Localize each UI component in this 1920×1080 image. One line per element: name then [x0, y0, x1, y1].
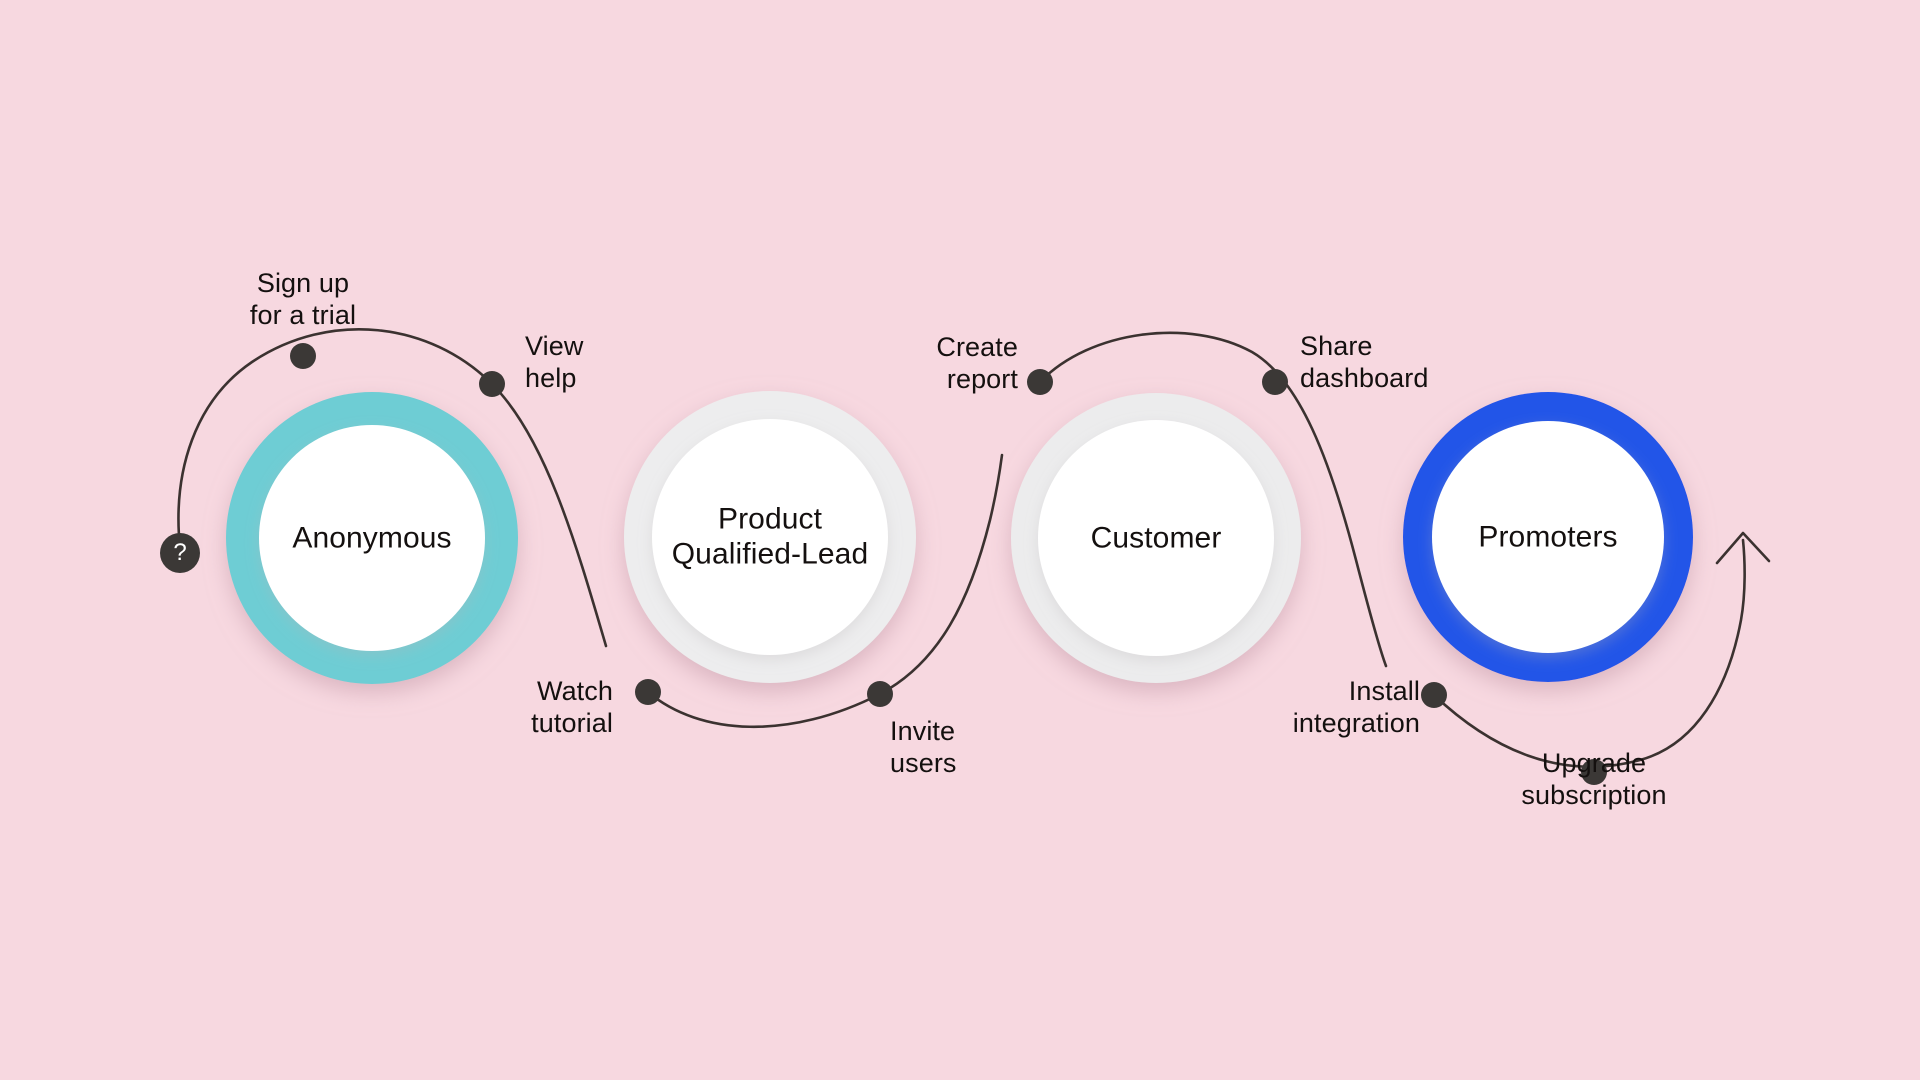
action-label-upgrade-subscription: Upgrade subscription — [1521, 748, 1666, 811]
action-dot-sign-up-for-a-trial[interactable] — [290, 343, 316, 369]
unknown-visitor-badge[interactable]: ? — [160, 533, 200, 573]
action-dot-invite-users[interactable] — [867, 681, 893, 707]
action-label-install-integration: Install integration — [1293, 676, 1420, 739]
action-label-watch-tutorial: Watch tutorial — [531, 676, 613, 739]
stage-label-promoters: Promoters — [1436, 519, 1660, 554]
stage-label-anonymous: Anonymous — [263, 520, 481, 555]
action-dot-share-dashboard[interactable] — [1262, 369, 1288, 395]
stage-label-product-qualified-lead: Product Qualified-Lead — [656, 502, 884, 573]
action-label-invite-users: Invite users — [890, 716, 957, 779]
action-label-share-dashboard: Share dashboard — [1300, 331, 1429, 394]
action-label-view-help: View help — [525, 331, 583, 394]
stage-label-customer: Customer — [1042, 520, 1270, 555]
diagram-canvas: Sign up for a trialView helpWatch tutori… — [0, 0, 1920, 1080]
action-label-sign-up-for-a-trial: Sign up for a trial — [250, 268, 356, 331]
action-label-create-report: Create report — [936, 332, 1018, 395]
action-dot-watch-tutorial[interactable] — [635, 679, 661, 705]
action-dot-view-help[interactable] — [479, 371, 505, 397]
question-mark-icon: ? — [173, 541, 186, 565]
action-dot-create-report[interactable] — [1027, 369, 1053, 395]
action-dot-install-integration[interactable] — [1421, 682, 1447, 708]
